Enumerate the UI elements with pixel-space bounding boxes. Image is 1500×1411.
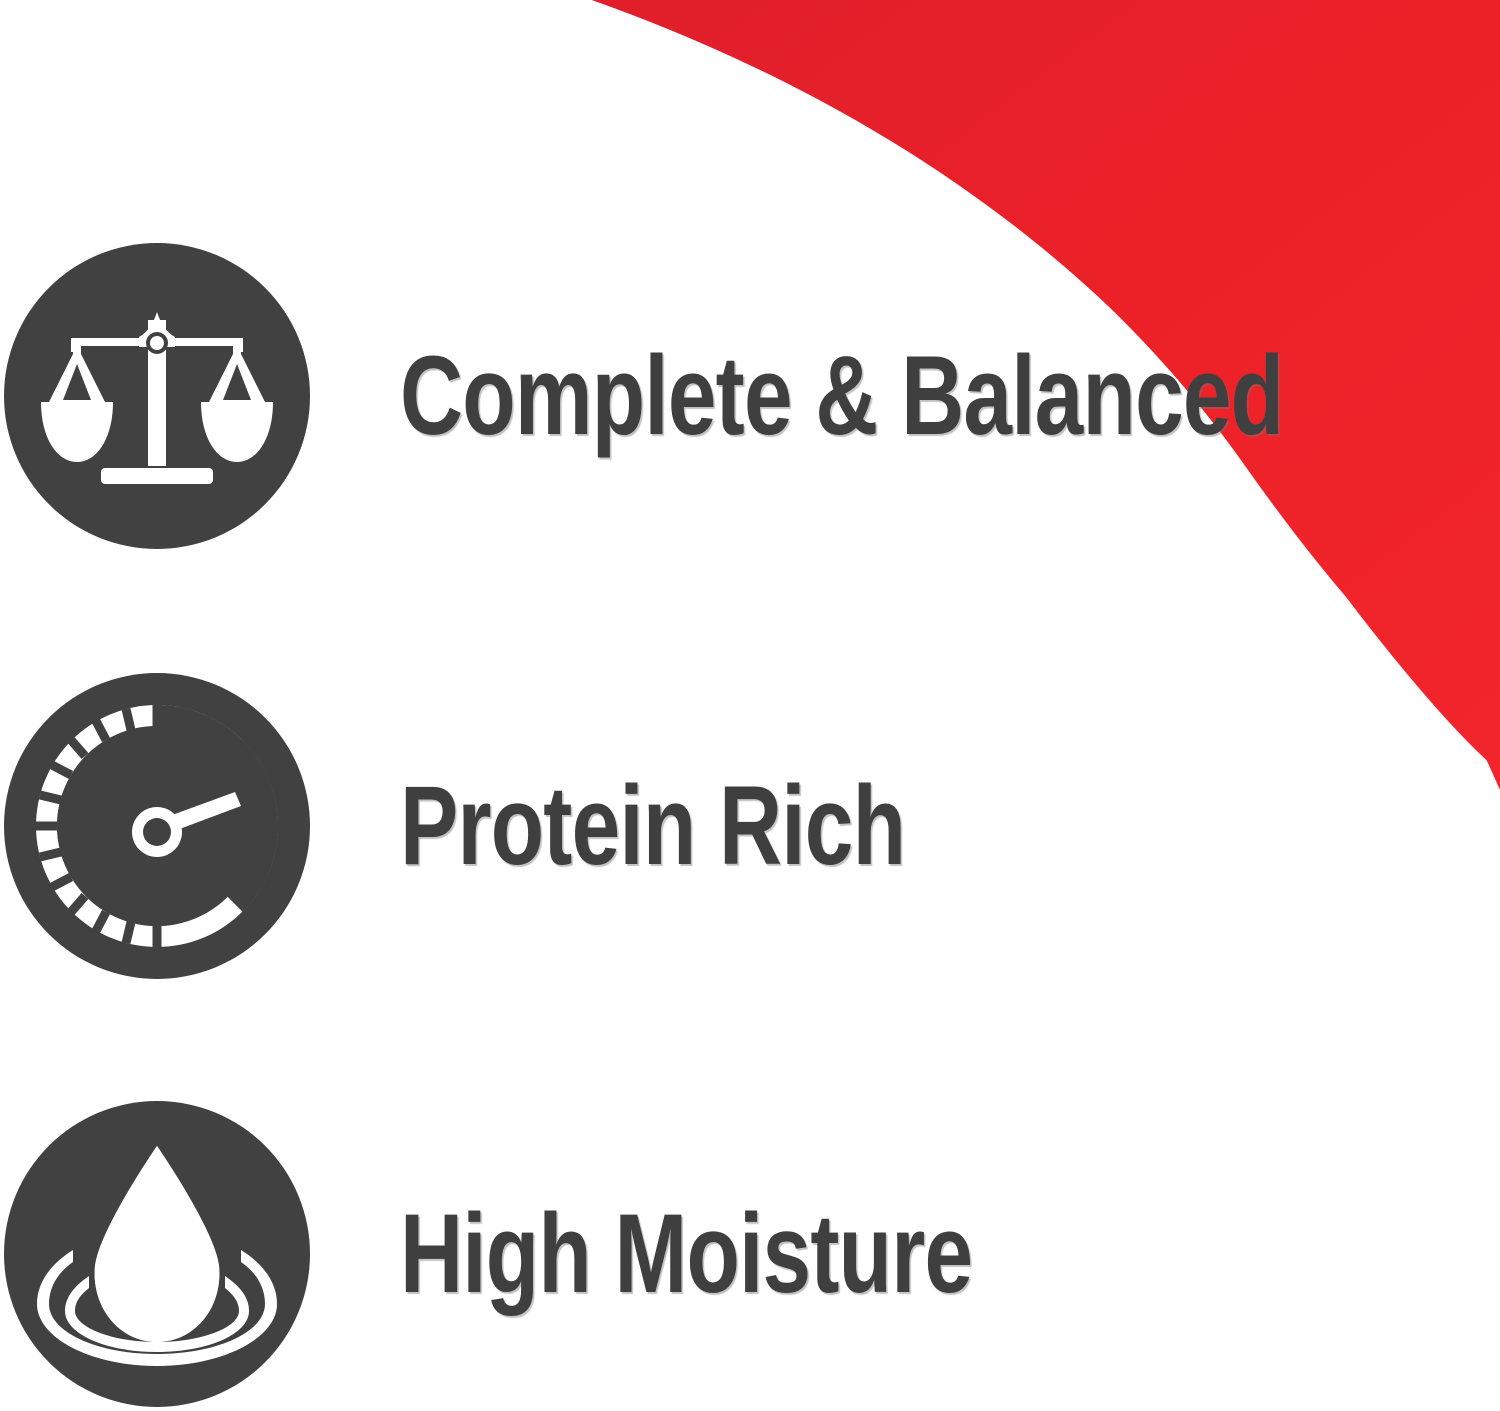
balance-scale-badge [3, 242, 311, 550]
gauge-meter-icon [3, 672, 311, 980]
feature-label: Protein Rich [400, 770, 905, 882]
product-feature-panel: Complete & Balanced [0, 0, 1500, 1411]
feature-row: Complete & Balanced [0, 240, 1200, 552]
water-droplet-icon [3, 1100, 311, 1408]
gauge-meter-badge [3, 672, 311, 980]
water-droplet-badge [3, 1100, 311, 1408]
feature-label: Complete & Balanced [400, 340, 1283, 452]
feature-label: High Moisture [400, 1198, 972, 1310]
balance-scale-icon [3, 242, 311, 550]
feature-row: High Moisture [0, 1098, 1200, 1410]
feature-row: Protein Rich [0, 670, 1200, 982]
